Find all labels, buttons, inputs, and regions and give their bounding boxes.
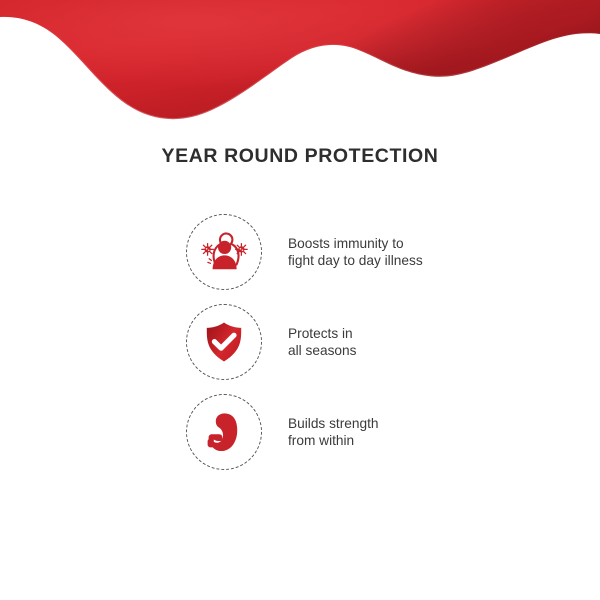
benefit-item-strength: Builds strength from within — [0, 387, 600, 477]
flexed-bicep-icon — [199, 407, 249, 457]
red-wave-banner — [0, 0, 600, 130]
icon-badge-protection — [186, 304, 262, 380]
poster-root: YEAR ROUND PROTECTION — [0, 0, 600, 600]
icon-badge-immunity — [186, 214, 262, 290]
benefit-item-immunity: Boosts immunity to fight day to day illn… — [0, 207, 600, 297]
icon-badge-strength — [186, 394, 262, 470]
page-title: YEAR ROUND PROTECTION — [0, 145, 600, 168]
immunity-person-germs-icon — [199, 227, 249, 277]
benefit-text-protection: Protects in all seasons — [288, 325, 356, 360]
benefit-text-strength: Builds strength from within — [288, 415, 379, 450]
benefit-item-protection: Protects in all seasons — [0, 297, 600, 387]
benefit-list: Boosts immunity to fight day to day illn… — [0, 207, 600, 477]
shield-check-icon — [199, 317, 249, 367]
benefit-text-immunity: Boosts immunity to fight day to day illn… — [288, 235, 423, 270]
